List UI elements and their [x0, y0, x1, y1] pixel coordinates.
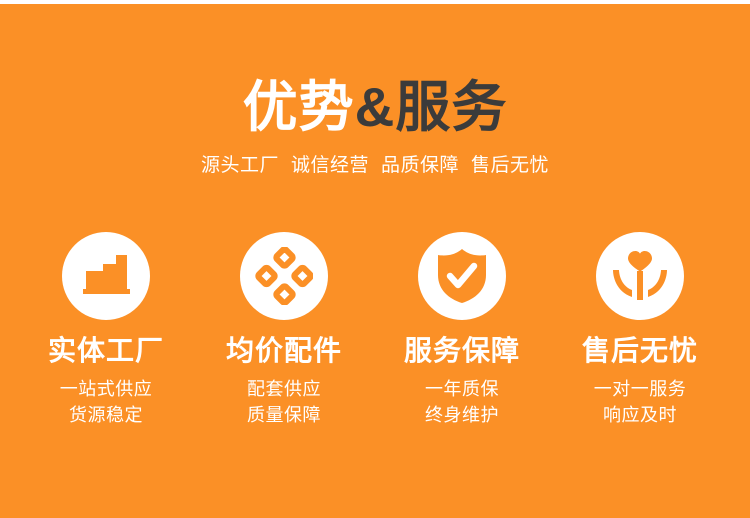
shield-check-icon — [435, 247, 489, 305]
four-diamonds-icon — [255, 247, 313, 305]
feature-title: 服务保障 — [373, 334, 551, 368]
subtitle-item-2: 诚信经营 — [291, 155, 369, 176]
factory-icon — [78, 248, 134, 304]
feature-card-service: 服务保障 一年质保 终身维护 — [373, 232, 551, 428]
feature-icon-circle — [240, 232, 328, 320]
feature-icon-circle — [62, 232, 150, 320]
feature-detail-line-2: 货源稳定 — [17, 402, 195, 428]
feature-detail-line-2: 质量保障 — [195, 402, 373, 428]
feature-detail-line-1: 一对一服务 — [551, 376, 729, 402]
heart-in-hands-icon — [611, 249, 669, 303]
page-title-part-1: 优势 — [243, 76, 355, 138]
feature-detail-line-2: 终身维护 — [373, 402, 551, 428]
feature-title: 售后无忧 — [551, 334, 729, 368]
feature-icon-circle — [418, 232, 506, 320]
promo-banner: 优势&服务 源头工厂诚信经营品质保障售后无忧 — [0, 4, 750, 518]
subtitle-item-1: 源头工厂 — [201, 155, 279, 176]
feature-detail-lines: 一对一服务 响应及时 — [551, 376, 729, 428]
subtitle-item-4: 售后无忧 — [471, 155, 549, 176]
feature-icon-circle — [596, 232, 684, 320]
feature-card-factory: 实体工厂 一站式供应 货源稳定 — [17, 232, 195, 428]
feature-detail-lines: 配套供应 质量保障 — [195, 376, 373, 428]
feature-card-aftersales: 售后无忧 一对一服务 响应及时 — [551, 232, 729, 428]
feature-detail-lines: 一站式供应 货源稳定 — [17, 376, 195, 428]
page-subtitle: 源头工厂诚信经营品质保障售后无忧 — [0, 154, 750, 178]
page-title: 优势&服务 — [0, 76, 750, 138]
feature-title: 实体工厂 — [17, 334, 195, 368]
feature-card-parts: 均价配件 配套供应 质量保障 — [195, 232, 373, 428]
page-title-part-2: 服务 — [395, 76, 507, 138]
feature-detail-lines: 一年质保 终身维护 — [373, 376, 551, 428]
heading-block: 优势&服务 源头工厂诚信经营品质保障售后无忧 — [0, 76, 750, 178]
feature-detail-line-1: 一站式供应 — [17, 376, 195, 402]
feature-title: 均价配件 — [195, 334, 373, 368]
feature-detail-line-1: 配套供应 — [195, 376, 373, 402]
page-title-ampersand: & — [355, 76, 396, 138]
feature-detail-line-1: 一年质保 — [373, 376, 551, 402]
feature-detail-line-2: 响应及时 — [551, 402, 729, 428]
subtitle-item-3: 品质保障 — [381, 155, 459, 176]
